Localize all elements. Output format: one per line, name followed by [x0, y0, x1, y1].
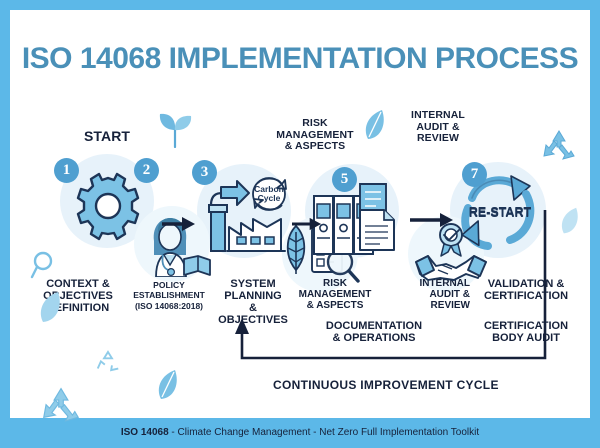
caption-line: & ASPECTS	[262, 141, 368, 153]
footer-text: ISO 14068 - Climate Change Management - …	[0, 418, 600, 448]
recycle-icon	[38, 385, 84, 434]
footer-banner: ISO 14068 - Climate Change Management - …	[0, 418, 600, 448]
leaf-icon	[155, 368, 181, 407]
caption-line: INTERNAL	[388, 110, 488, 122]
caption-risk-management-top: RISK MANAGEMENT & ASPECTS	[262, 118, 368, 153]
badge-step-5: 5	[332, 167, 357, 192]
caption-start-line: START	[47, 129, 167, 144]
arrow-step5-to-step7	[410, 212, 454, 233]
footer-rest: - Climate Change Management - Net Zero F…	[169, 427, 480, 438]
footer-brand: ISO 14068	[121, 427, 169, 438]
badge-step-3: 3	[192, 160, 217, 185]
binders-documents-icon	[310, 182, 398, 261]
leaf-icon	[36, 290, 64, 329]
recycle-icon	[92, 348, 124, 383]
restart-label-text: RE-START	[458, 206, 542, 220]
caption-sub-line: (ISO 14068:2018)	[124, 301, 214, 311]
factory-carbon-cycle-icon: Carbon Cycle	[205, 175, 293, 262]
recycle-icon	[539, 128, 579, 171]
sprout-icon	[155, 110, 195, 153]
caption-line: RISK	[262, 118, 368, 130]
caption-start: START	[47, 129, 167, 144]
arrow-step1-to-step3	[162, 216, 196, 237]
caption-internal-audit-top: INTERNAL AUDIT & REVIEW	[388, 110, 488, 145]
caption-policy-establishment: POLICY ESTABLISHMENT (ISO 14068:2018)	[124, 280, 214, 311]
page-title: ISO 14068 IMPLEMENTATION PROCESS	[10, 42, 590, 76]
caption-line: REVIEW	[388, 133, 488, 145]
infographic-canvas: ISO 14068 IMPLEMENTATION PROCESS	[0, 0, 600, 448]
badge-step-1: 1	[54, 158, 79, 183]
continuous-improvement-cycle-label: CONTINUOUS IMPROVEMENT CYCLE	[273, 378, 499, 392]
leaf-icon	[362, 108, 388, 147]
leaf-icon	[558, 206, 582, 241]
infographic-card: ISO 14068 IMPLEMENTATION PROCESS	[10, 10, 590, 424]
badge-step-7: 7	[462, 162, 487, 187]
magnifier-icon	[30, 250, 56, 285]
caption-line: ESTABLISHMENT	[124, 290, 214, 300]
arrow-step3-to-step5	[292, 216, 322, 237]
badge-step-2: 2	[134, 158, 159, 183]
